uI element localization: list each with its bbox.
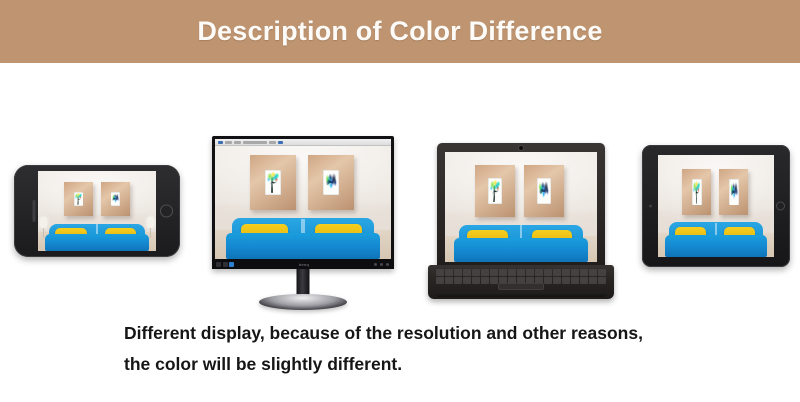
framed-artwork-right	[308, 155, 354, 210]
key[interactable]	[562, 269, 570, 276]
osd-button[interactable]	[223, 262, 228, 267]
framed-artwork-left	[682, 169, 711, 215]
key[interactable]	[571, 277, 579, 284]
laptop-trackpad[interactable]	[498, 283, 544, 290]
artwork-tree	[693, 180, 701, 205]
tablet-screen	[658, 155, 774, 257]
monitor-panel: benq	[212, 136, 394, 269]
artwork-tree	[266, 171, 280, 194]
mat	[488, 178, 502, 204]
key[interactable]	[508, 269, 516, 276]
monitor-chin: benq	[212, 259, 394, 269]
mat	[692, 179, 701, 205]
caption-line-1: Different display, because of the resolu…	[124, 318, 800, 349]
key[interactable]	[553, 269, 561, 276]
bedroom-photo	[215, 139, 391, 259]
framed-artwork-right	[101, 182, 131, 216]
address-bar[interactable]	[243, 141, 267, 144]
artwork-tree	[489, 179, 501, 203]
key[interactable]	[535, 269, 543, 276]
bed	[665, 222, 767, 257]
artwork-splash	[730, 180, 738, 205]
monitor-brand-label: benq	[234, 262, 374, 267]
osd-button[interactable]	[216, 262, 221, 267]
key[interactable]	[463, 277, 471, 284]
toolbar-button-icon[interactable]	[234, 141, 241, 144]
bedroom-photo	[658, 155, 774, 257]
key[interactable]	[598, 277, 606, 284]
framed-artwork-right	[524, 165, 564, 217]
key[interactable]	[544, 269, 552, 276]
toolbar-button-icon[interactable]	[218, 141, 223, 144]
key[interactable]	[571, 269, 579, 276]
key[interactable]	[526, 269, 534, 276]
key[interactable]	[472, 269, 480, 276]
artwork-splash	[538, 179, 550, 203]
home-button-icon[interactable]	[160, 205, 173, 218]
key[interactable]	[454, 277, 462, 284]
page-title: Description of Color Difference	[197, 16, 602, 47]
key[interactable]	[436, 277, 444, 284]
browser-toolbar[interactable]	[215, 139, 391, 146]
key[interactable]	[463, 269, 471, 276]
key[interactable]	[553, 277, 561, 284]
laptop-screen	[445, 152, 597, 262]
device-desktop-monitor: benq	[212, 136, 394, 308]
key[interactable]	[589, 269, 597, 276]
key[interactable]	[490, 277, 498, 284]
bedroom-photo	[38, 171, 156, 251]
smartphone-screen	[38, 171, 156, 251]
mat	[323, 170, 339, 195]
key[interactable]	[481, 277, 489, 284]
monitor-osd-buttons[interactable]	[216, 262, 234, 267]
bedspread	[454, 238, 588, 262]
bedroom-photo	[445, 152, 597, 262]
device-showcase: benq	[0, 63, 800, 315]
key[interactable]	[472, 277, 480, 284]
artwork-splash	[111, 193, 119, 205]
monitor-indicator-dots	[374, 263, 389, 266]
key[interactable]	[589, 277, 597, 284]
caption-block: Different display, because of the resolu…	[0, 318, 800, 402]
laptop-keyboard-deck	[428, 265, 614, 299]
indicator-dot	[386, 263, 389, 266]
monitor-screen	[215, 139, 391, 259]
mat	[537, 178, 551, 204]
key[interactable]	[499, 269, 507, 276]
key[interactable]	[445, 269, 453, 276]
key[interactable]	[481, 269, 489, 276]
mat	[74, 192, 83, 206]
header-banner: Description of Color Difference	[0, 0, 800, 63]
framed-artwork-left	[64, 182, 94, 216]
bedspread	[45, 234, 149, 251]
key[interactable]	[436, 269, 444, 276]
earpiece-speaker-icon	[33, 200, 36, 222]
mat	[729, 179, 738, 205]
framed-artwork-left	[250, 155, 296, 210]
laptop-keyboard[interactable]	[436, 269, 606, 284]
laptop-front-lip	[434, 292, 608, 297]
bedspread	[665, 235, 767, 257]
key[interactable]	[562, 277, 570, 284]
framed-artwork-left	[475, 165, 515, 217]
device-laptop: hp	[428, 143, 614, 308]
home-button-icon[interactable]	[776, 202, 785, 211]
mat	[111, 192, 120, 206]
laptop-lid	[437, 143, 605, 267]
bedspread	[226, 233, 381, 259]
indicator-dot	[380, 263, 383, 266]
mat	[265, 170, 281, 195]
bed	[45, 224, 149, 251]
key[interactable]	[544, 277, 552, 284]
framed-artwork-right	[719, 169, 748, 215]
artwork-tree	[75, 193, 83, 205]
device-smartphone	[14, 165, 180, 257]
bed	[454, 225, 588, 262]
webcam-icon	[519, 146, 523, 150]
front-camera-icon	[649, 205, 652, 208]
key[interactable]	[598, 269, 606, 276]
key[interactable]	[580, 269, 588, 276]
key[interactable]	[454, 269, 462, 276]
toolbar-button-icon[interactable]	[269, 141, 276, 144]
toolbar-button-icon[interactable]	[278, 141, 283, 144]
key[interactable]	[490, 269, 498, 276]
key[interactable]	[580, 277, 588, 284]
indicator-dot	[374, 263, 377, 266]
artwork-splash	[324, 171, 338, 194]
bed	[226, 218, 381, 259]
toolbar-button-icon[interactable]	[225, 141, 232, 144]
caption-line-2: the color will be slightly different.	[124, 349, 800, 380]
key[interactable]	[517, 269, 525, 276]
monitor-stand-base	[259, 294, 347, 310]
device-tablet	[642, 145, 790, 267]
key[interactable]	[445, 277, 453, 284]
